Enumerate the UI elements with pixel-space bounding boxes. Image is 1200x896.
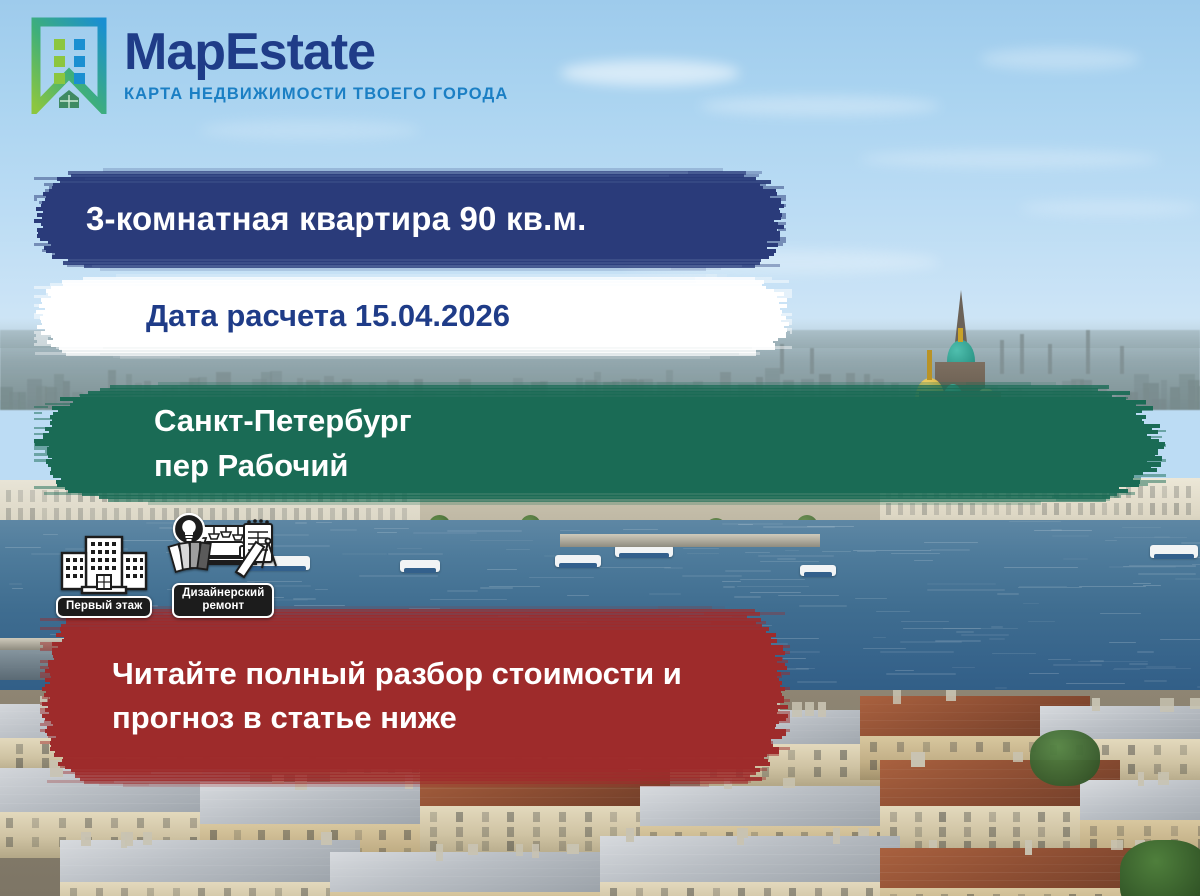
calculation-date: Дата расчета 15.04.2026: [34, 298, 510, 334]
date-banner: Дата расчета 15.04.2026: [34, 274, 792, 358]
bookmark-building-icon: [28, 16, 110, 114]
apartment-building-icon: [58, 533, 150, 600]
cta-text: Читайте полный разбор стоимости и прогно…: [40, 652, 790, 740]
brand-logo[interactable]: MapEstate КАРТА НЕДВИЖИМОСТИ ТВОЕГО ГОРО…: [28, 16, 508, 114]
feature-badges: Первый этаж: [56, 512, 282, 618]
property-title: 3-комнатная квартира 90 кв.м.: [34, 200, 587, 238]
street-name: пер Рабочий: [154, 449, 412, 482]
cta-banner[interactable]: Читайте полный разбор стоимости и прогно…: [40, 606, 790, 786]
poster-canvas: MapEstate КАРТА НЕДВИЖИМОСТИ ТВОЕГО ГОРО…: [0, 0, 1200, 896]
title-banner: 3-комнатная квартира 90 кв.м.: [34, 168, 786, 270]
brand-tagline: КАРТА НЕДВИЖИМОСТИ ТВОЕГО ГОРОДА: [124, 85, 508, 104]
interior-design-icon: [164, 512, 282, 587]
badge-first-floor[interactable]: Первый этаж: [56, 533, 152, 618]
badge-designer-renovation[interactable]: Дизайнерский ремонт: [164, 512, 282, 618]
brand-name: MapEstate: [124, 26, 508, 78]
badge-label: Дизайнерский ремонт: [172, 583, 274, 618]
city-name: Санкт-Петербург: [154, 404, 412, 437]
location-banner: Санкт-Петербург пер Рабочий: [34, 382, 1166, 504]
